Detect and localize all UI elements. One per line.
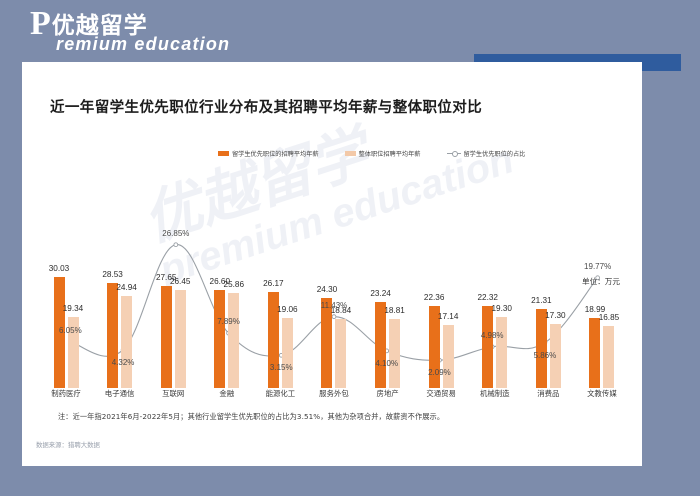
axis-category-label: 房地产 xyxy=(366,388,410,399)
logo-english-name: remium education xyxy=(56,34,230,55)
percentage-label: 26.85% xyxy=(162,229,189,238)
percentage-label: 7.89% xyxy=(217,317,240,326)
axis-category-label: 交通贸易 xyxy=(419,388,463,399)
axis-category-label: 服务外包 xyxy=(312,388,356,399)
legend-line-marker-icon xyxy=(447,153,461,154)
percentage-label: 11.43% xyxy=(321,301,348,310)
legend-swatch-icon-primary xyxy=(218,151,229,156)
axis-category-label: 金融 xyxy=(205,388,249,399)
brand-logo: P 优越留学 remium education xyxy=(30,8,230,55)
percentage-label: 4.32% xyxy=(112,358,135,367)
axis-category-label: 电子通信 xyxy=(98,388,142,399)
legend-label-1: 整体职位招聘平均年薪 xyxy=(359,149,421,158)
percentage-label: 3.15% xyxy=(270,363,293,372)
axis-category-label: 消费品 xyxy=(526,388,570,399)
legend-label-2: 留学生优先职位的占比 xyxy=(464,149,526,158)
axis-category-label: 能源化工 xyxy=(258,388,302,399)
x-axis-categories: 制药医疗电子通信互联网金融能源化工服务外包房地产交通贸易机械制造消费品文教传媒 xyxy=(44,388,624,399)
percentage-label: 4.10% xyxy=(375,359,398,368)
axis-category-label: 制药医疗 xyxy=(44,388,88,399)
percentage-label: 5.86% xyxy=(534,351,557,360)
page-title: 近一年留学生优先职位行业分布及其招聘平均年薪与整体职位对比 xyxy=(50,96,482,117)
axis-category-label: 文教传媒 xyxy=(580,388,624,399)
unit-label: 单位：万元 xyxy=(582,276,620,287)
logo-initial-letter: P xyxy=(30,10,50,38)
percentage-label: 6.05% xyxy=(59,326,82,335)
chart-card: 优越留学premium education 近一年留学生优先职位行业分布及其招聘… xyxy=(22,62,642,466)
footnote: 注：近一年指2021年6月-2022年5月；其他行业留学生优先职位的占比为3.5… xyxy=(58,412,444,422)
axis-category-label: 机械制造 xyxy=(473,388,517,399)
percentage-label-layer: 6.05%4.32%26.85%7.89%3.15%11.43%4.10%2.0… xyxy=(44,158,624,388)
legend-swatch-icon-secondary xyxy=(345,151,356,156)
legend-label-0: 留学生优先职位的招聘平均年薪 xyxy=(232,149,319,158)
percentage-label: 2.09% xyxy=(428,368,451,377)
slide-background: P 优越留学 remium education 优越留学premium educ… xyxy=(0,0,700,496)
axis-category-label: 互联网 xyxy=(151,388,195,399)
legend-item-2: 留学生优先职位的占比 xyxy=(447,149,526,158)
data-source-label: 数据来源：猎聘大数据 xyxy=(36,440,100,449)
legend-item-0: 留学生优先职位的招聘平均年薪 xyxy=(218,149,319,158)
percentage-label: 19.77% xyxy=(584,262,611,271)
legend-item-1: 整体职位招聘平均年薪 xyxy=(345,149,421,158)
percentage-label: 4.98% xyxy=(481,331,504,340)
